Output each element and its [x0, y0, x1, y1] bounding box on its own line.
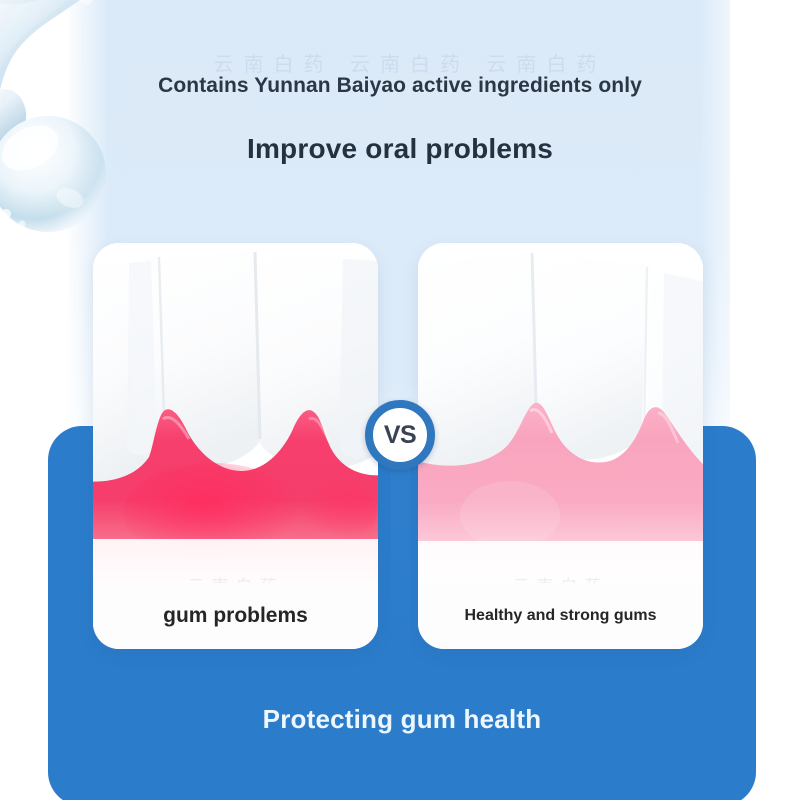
vs-badge: VS [365, 400, 435, 470]
healthy-gums-illustration [418, 243, 703, 583]
promo-banner: 云南白药 云南白药 云南白药 Contains Yunnan Baiyao ac… [0, 0, 800, 800]
footer-caption: Protecting gum health [48, 704, 756, 735]
inflamed-gums-illustration [93, 243, 378, 583]
card-label-unhealthy: gum problems [93, 583, 378, 649]
header-subtitle: Contains Yunnan Baiyao active ingredient… [0, 74, 800, 98]
comparison-card-unhealthy[interactable]: 云南白药 gum problems [93, 243, 378, 649]
page-title: Improve oral problems [0, 133, 800, 165]
vs-connector-stem [391, 430, 410, 800]
card-label-healthy: Healthy and strong gums [418, 583, 703, 649]
header-watermark: 云南白药 云南白药 云南白药 [150, 48, 670, 74]
vs-badge-label: VS [384, 423, 416, 448]
comparison-card-healthy[interactable]: 云南白药 Healthy and strong gums [418, 243, 703, 649]
top-panel-right-fade [700, 0, 730, 455]
